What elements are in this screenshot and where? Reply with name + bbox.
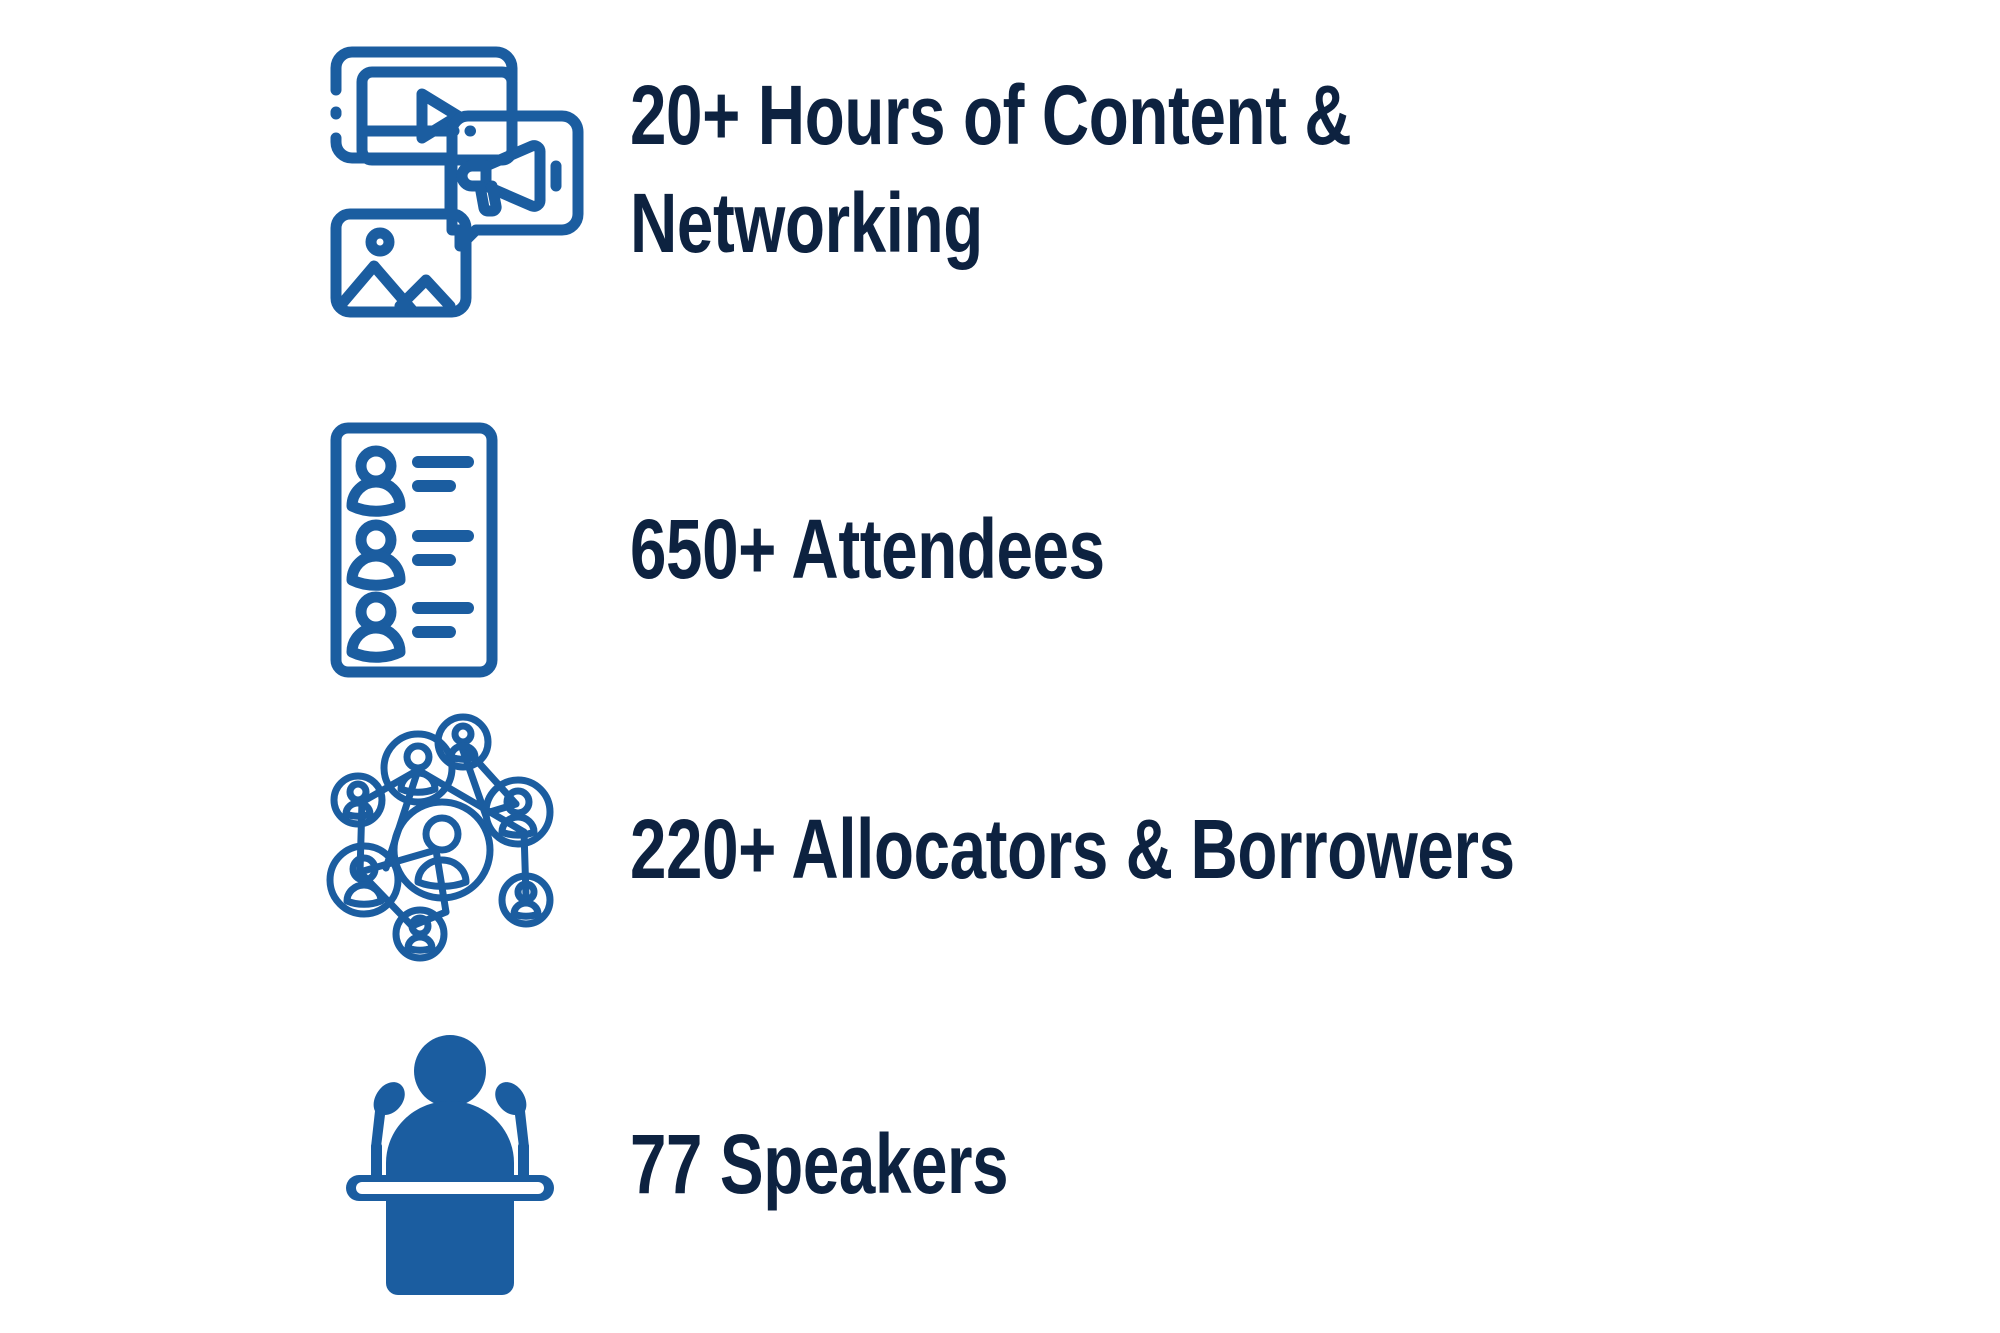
- content-media-megaphone-icon: [300, 20, 600, 320]
- event-stats-board: 20+ Hours of Content & Networking: [0, 0, 2000, 1333]
- stat-label: 20+ Hours of Content & Networking: [630, 62, 1351, 277]
- stat-row: 650+ Attendees: [300, 400, 1239, 700]
- stat-row: 220+ Allocators & Borrowers: [300, 700, 1764, 1000]
- speaker-podium-icon: [300, 1015, 600, 1315]
- stat-label: 77 Speakers: [630, 1111, 1008, 1219]
- attendee-list-icon: [300, 400, 600, 700]
- stat-label: 220+ Allocators & Borrowers: [630, 796, 1515, 904]
- stat-row: 20+ Hours of Content & Networking: [300, 0, 1555, 340]
- stat-row: 77 Speakers: [300, 1010, 1115, 1320]
- stat-label: 650+ Attendees: [630, 496, 1105, 604]
- network-people-icon: [300, 700, 600, 1000]
